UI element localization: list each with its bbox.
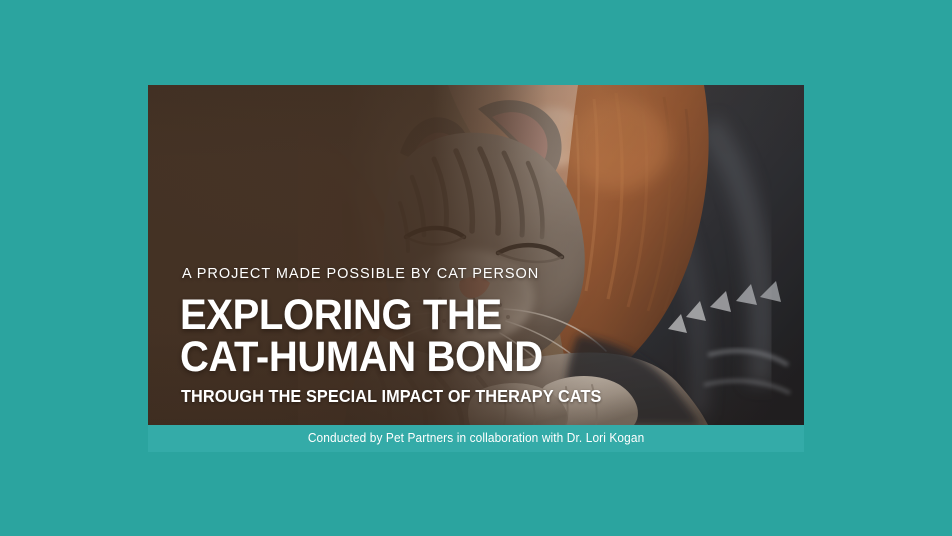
credit-bar: Conducted by Pet Partners in collaborati…	[148, 425, 804, 452]
subheadline-text: THROUGH THE SPECIAL IMPACT OF THERAPY CA…	[181, 388, 580, 406]
headline-line-2: CAT-HUMAN BOND	[180, 337, 580, 378]
headline-line-1: EXPLORING THE	[180, 295, 580, 336]
report-cover-card: A PROJECT MADE POSSIBLE BY CAT PERSON EX…	[148, 85, 804, 452]
eyebrow-text: A PROJECT MADE POSSIBLE BY CAT PERSON	[182, 267, 610, 282]
cover-photo: A PROJECT MADE POSSIBLE BY CAT PERSON EX…	[148, 85, 804, 425]
poster-canvas: A PROJECT MADE POSSIBLE BY CAT PERSON EX…	[0, 0, 952, 536]
cover-copy-block: A PROJECT MADE POSSIBLE BY CAT PERSON EX…	[180, 267, 610, 405]
credit-text: Conducted by Pet Partners in collaborati…	[308, 432, 644, 445]
